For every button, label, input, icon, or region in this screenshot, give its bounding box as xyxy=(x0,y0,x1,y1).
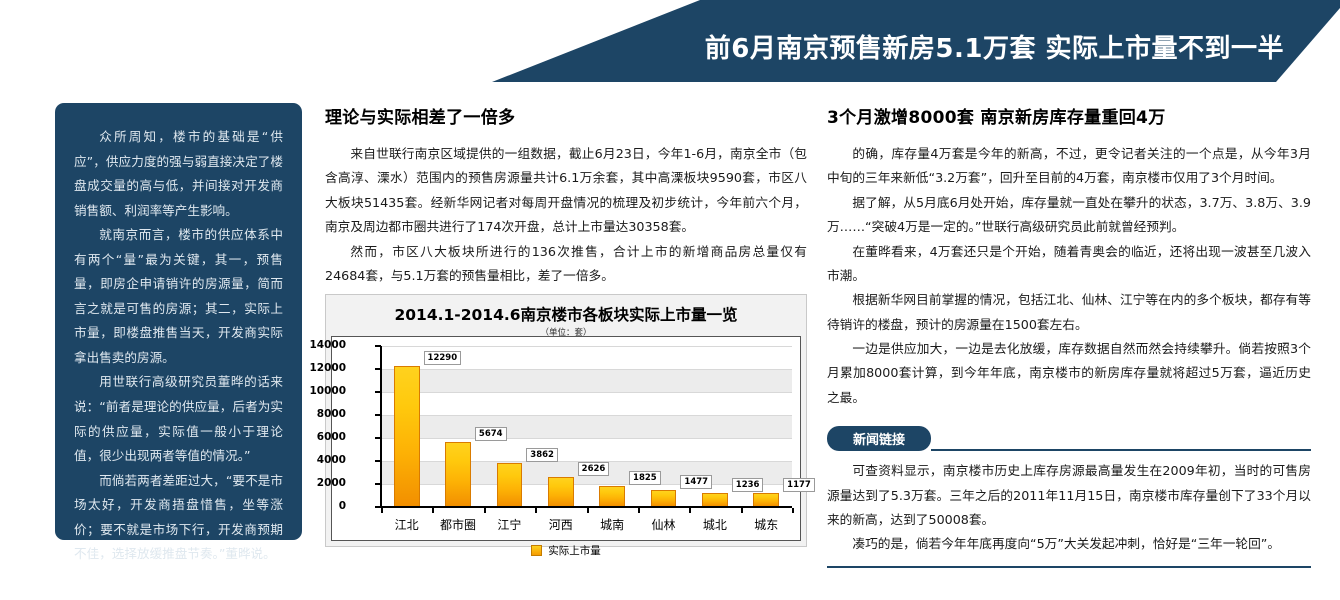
chart-bar xyxy=(548,477,574,507)
chart-x-category-label: 河西 xyxy=(549,516,573,533)
news-link-paragraph: 凑巧的是，倘若今年年底再度向“5万”大关发起冲刺，恰好是“三年一轮回”。 xyxy=(827,532,1311,556)
middle-column-text-block: 来自世联行南京区域提供的一组数据，截止6月23日，今年1-6月，南京全市（包含高… xyxy=(325,142,807,288)
chart-x-category-label: 江北 xyxy=(395,516,419,533)
sidebar-paragraph: 就南京而言，楼市的供应体系中有两个“量”最为关键，其一，预售量，即房企申请销许的… xyxy=(74,223,283,370)
chart-y-tick-label: 8000 xyxy=(286,408,346,420)
legend-label: 实际上市量 xyxy=(548,543,601,558)
chart-bar xyxy=(445,442,471,507)
chart-y-tick-mark xyxy=(375,368,381,370)
header-banner: 前6月南京预售新房5.1万套 实际上市量不到一半 xyxy=(0,0,1340,86)
chart-bar-value-label: 1236 xyxy=(732,478,764,492)
chart-bar-value-label: 3862 xyxy=(526,448,558,462)
chart-gridline xyxy=(381,484,792,485)
chart-gridline xyxy=(381,392,792,393)
chart-bar-value-label: 1477 xyxy=(680,475,712,489)
news-link-section: 新闻链接 可查资料显示，南京楼市历史上库存房源最高量发生在2009年初，当时的可… xyxy=(827,426,1311,568)
chart-y-tick-mark xyxy=(375,414,381,416)
chart-y-tick-mark xyxy=(375,483,381,485)
chart-x-category-label: 仙林 xyxy=(652,516,676,533)
chart-x-tick-mark xyxy=(381,508,383,513)
right-column-heading: 3个月激增8000套 南京新房库存量重回4万 xyxy=(827,103,1311,128)
chart-x-category-label: 城东 xyxy=(754,516,778,533)
chart-bar xyxy=(394,366,420,507)
middle-column-paragraph: 来自世联行南京区域提供的一组数据，截止6月23日，今年1-6月，南京全市（包含高… xyxy=(325,142,807,240)
chart-bar-value-label: 1825 xyxy=(629,471,661,485)
chart-gridline xyxy=(381,438,792,439)
sidebar-intro-panel: 众所周知，楼市的基础是“供应”，供应力度的强与弱直接决定了楼盘成交量的高与低，并… xyxy=(55,103,302,540)
chart-grid-band xyxy=(381,415,792,438)
chart-y-tick-mark xyxy=(375,345,381,347)
news-link-rule-top xyxy=(931,449,1311,451)
chart-bar-value-label: 2626 xyxy=(578,462,610,476)
chart-x-category-label: 城南 xyxy=(600,516,624,533)
chart-y-tick-label: 2000 xyxy=(286,477,346,489)
sidebar-paragraph: 众所周知，楼市的基础是“供应”，供应力度的强与弱直接决定了楼盘成交量的高与低，并… xyxy=(74,125,283,223)
chart-grid-band xyxy=(381,369,792,392)
chart-y-tick-label: 12000 xyxy=(286,362,346,374)
right-column-paragraph: 据了解，从5月底6月处开始，库存量就一直处在攀升的状态，3.7万、3.8万、3.… xyxy=(827,191,1311,240)
middle-column-heading: 理论与实际相差了一倍多 xyxy=(325,103,807,128)
chart-bar-value-label: 5674 xyxy=(475,427,507,441)
chart-x-category-label: 城北 xyxy=(703,516,727,533)
right-column-text-block: 的确，库存量4万套是今年的新高，不过，更令记者关注的一个点是，从今年3月中旬的三… xyxy=(827,142,1311,410)
middle-column-paragraph: 然而，市区八大板块所进行的136次推售，合计上市的新增商品房总量仅有24684套… xyxy=(325,240,807,289)
chart-x-tick-mark xyxy=(741,508,743,513)
legend-swatch-icon xyxy=(531,545,542,556)
news-link-paragraph: 可查资料显示，南京楼市历史上库存房源最高量发生在2009年初，当时的可售房源量达… xyxy=(827,459,1311,532)
sidebar-paragraph: 用世联行高级研究员董晔的话来说：“前者是理论的供应量，后者为实际的供应量，实际值… xyxy=(74,370,283,468)
chart-x-category-label: 江宁 xyxy=(497,516,521,533)
news-link-rule-bottom xyxy=(827,566,1311,568)
chart-y-tick-label: 10000 xyxy=(286,385,346,397)
chart-gridline xyxy=(381,415,792,416)
chart-bar-value-label: 12290 xyxy=(424,351,462,365)
right-column-paragraph: 在董晔看来，4万套还只是个开始，随着青奥会的临近，还将出现一波甚至几波入市潮。 xyxy=(827,240,1311,289)
chart-plot-frame: 实际上市量 0200040006000800010000120001400012… xyxy=(331,336,801,541)
chart-x-tick-mark xyxy=(792,508,794,513)
chart-bar xyxy=(651,490,677,507)
right-column-paragraph: 根据新华网目前掌握的情况，包括江北、仙林、江宁等在内的多个板块，都存有等待销许的… xyxy=(827,288,1311,337)
chart-x-category-label: 都市圈 xyxy=(440,516,476,533)
bar-chart: 2014.1-2014.6南京楼市各板块实际上市量一览 （单位：套） 实际上市量… xyxy=(325,294,807,547)
chart-x-tick-mark xyxy=(484,508,486,513)
chart-x-tick-mark xyxy=(587,508,589,513)
right-column: 3个月激增8000套 南京新房库存量重回4万 的确，库存量4万套是今年的新高，不… xyxy=(827,103,1311,568)
chart-x-tick-mark xyxy=(638,508,640,513)
chart-y-tick-label: 4000 xyxy=(286,454,346,466)
chart-y-tick-label: 14000 xyxy=(286,339,346,351)
chart-y-tick-mark xyxy=(375,391,381,393)
chart-y-tick-mark xyxy=(375,437,381,439)
chart-legend: 实际上市量 xyxy=(332,543,800,558)
middle-column: 理论与实际相差了一倍多 来自世联行南京区域提供的一组数据，截止6月23日，今年1… xyxy=(325,103,807,288)
sidebar-text-block: 众所周知，楼市的基础是“供应”，供应力度的强与弱直接决定了楼盘成交量的高与低，并… xyxy=(74,125,283,567)
chart-y-tick-label: 0 xyxy=(286,500,346,512)
sidebar-paragraph: 而倘若两者差距过大，“要不是市场太好，开发商捂盘惜售，坐等涨价；要不就是市场下行… xyxy=(74,469,283,567)
chart-bar xyxy=(497,463,523,507)
chart-plot-area xyxy=(381,346,792,507)
right-column-paragraph: 的确，库存量4万套是今年的新高，不过，更令记者关注的一个点是，从今年3月中旬的三… xyxy=(827,142,1311,191)
chart-y-tick-mark xyxy=(375,460,381,462)
news-link-text-block: 可查资料显示，南京楼市历史上库存房源最高量发生在2009年初，当时的可售房源量达… xyxy=(827,459,1311,557)
chart-x-tick-mark xyxy=(689,508,691,513)
chart-bar xyxy=(753,493,779,507)
chart-bar xyxy=(702,493,728,507)
chart-bar xyxy=(599,486,625,507)
news-link-header: 新闻链接 xyxy=(827,426,1311,451)
chart-title: 2014.1-2014.6南京楼市各板块实际上市量一览 xyxy=(326,295,806,325)
chart-x-tick-mark xyxy=(535,508,537,513)
chart-x-tick-mark xyxy=(432,508,434,513)
chart-gridline xyxy=(381,346,792,347)
chart-gridline xyxy=(381,369,792,370)
chart-y-tick-label: 6000 xyxy=(286,431,346,443)
right-column-paragraph: 一边是供应加大，一边是去化放缓，库存数据自然而然会持续攀升。倘若按照3个月累加8… xyxy=(827,337,1311,410)
chart-bar-value-label: 1177 xyxy=(783,478,815,492)
page-title: 前6月南京预售新房5.1万套 实际上市量不到一半 xyxy=(705,28,1284,65)
news-link-badge: 新闻链接 xyxy=(827,426,931,451)
